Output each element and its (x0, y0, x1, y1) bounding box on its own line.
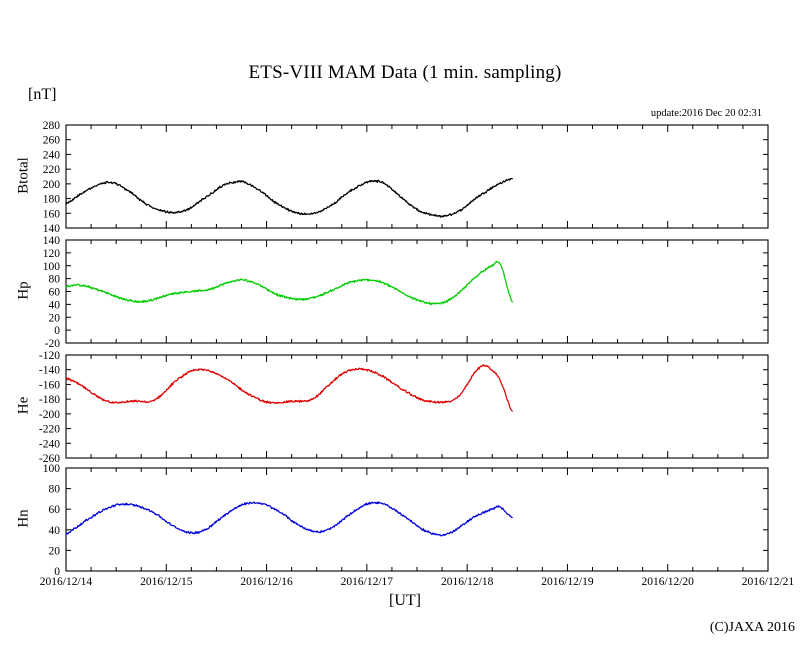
y-tick-label: 100 (43, 463, 61, 475)
y-tick-label: -200 (39, 409, 60, 421)
panel-frame (66, 240, 768, 343)
panel-hp: -20020406080100120140 (43, 235, 768, 350)
y-tick-label: 160 (43, 208, 61, 220)
y-tick-label: 20 (49, 545, 61, 557)
y-tick-label: 60 (49, 504, 61, 516)
panel-frame (66, 355, 768, 458)
panel-hn: 020406080100 (43, 463, 768, 578)
y-tick-label: -180 (39, 394, 60, 406)
y-tick-label: 260 (43, 135, 61, 147)
y-tick-label: 0 (54, 325, 60, 337)
mam-plot-figure: ETS-VIII MAM Data (1 min. sampling) [nT]… (0, 0, 810, 655)
y-tick-label: 140 (43, 235, 61, 247)
x-tick-label: 2016/12/18 (441, 576, 494, 588)
y-tick-label: -240 (39, 438, 60, 450)
panel-he: -260-240-220-200-180-160-140-120 (39, 350, 768, 465)
y-tick-label: 280 (43, 120, 61, 132)
x-tick-label: 2016/12/14 (40, 576, 93, 588)
y-tick-label: 80 (49, 484, 61, 496)
y-tick-label: 60 (49, 287, 61, 299)
y-tick-label: 40 (49, 525, 61, 537)
data-trace-hn (66, 502, 512, 536)
y-tick-label: 180 (43, 194, 61, 206)
y-tick-label: -20 (45, 338, 61, 350)
panel-btotal: 140160180200220240260280 (43, 120, 768, 235)
x-tick-label: 2016/12/17 (341, 576, 394, 588)
y-tick-label: -220 (39, 424, 60, 436)
x-tick-label: 2016/12/19 (541, 576, 594, 588)
x-tick-label: 2016/12/16 (240, 576, 293, 588)
y-tick-label: 20 (49, 312, 61, 324)
y-tick-label: 200 (43, 179, 61, 191)
y-tick-label: -160 (39, 379, 60, 391)
y-tick-label: 140 (43, 223, 61, 235)
y-tick-label: 40 (49, 299, 61, 311)
y-tick-label: 240 (43, 149, 61, 161)
y-tick-label: 220 (43, 164, 61, 176)
y-tick-label: 80 (49, 274, 61, 286)
x-tick-label: 2016/12/20 (642, 576, 695, 588)
data-trace-btotal (66, 179, 512, 218)
data-trace-hp (66, 262, 512, 305)
data-trace-he (66, 365, 512, 411)
y-tick-label: -120 (39, 350, 60, 362)
panel-frame (66, 468, 768, 571)
y-tick-label: 120 (43, 248, 61, 260)
y-tick-label: 100 (43, 261, 61, 273)
x-tick-label: 2016/12/15 (140, 576, 193, 588)
plot-canvas: 140160180200220240260280-200204060801001… (0, 0, 810, 655)
y-tick-label: -140 (39, 365, 60, 377)
x-tick-label: 2016/12/21 (742, 576, 795, 588)
